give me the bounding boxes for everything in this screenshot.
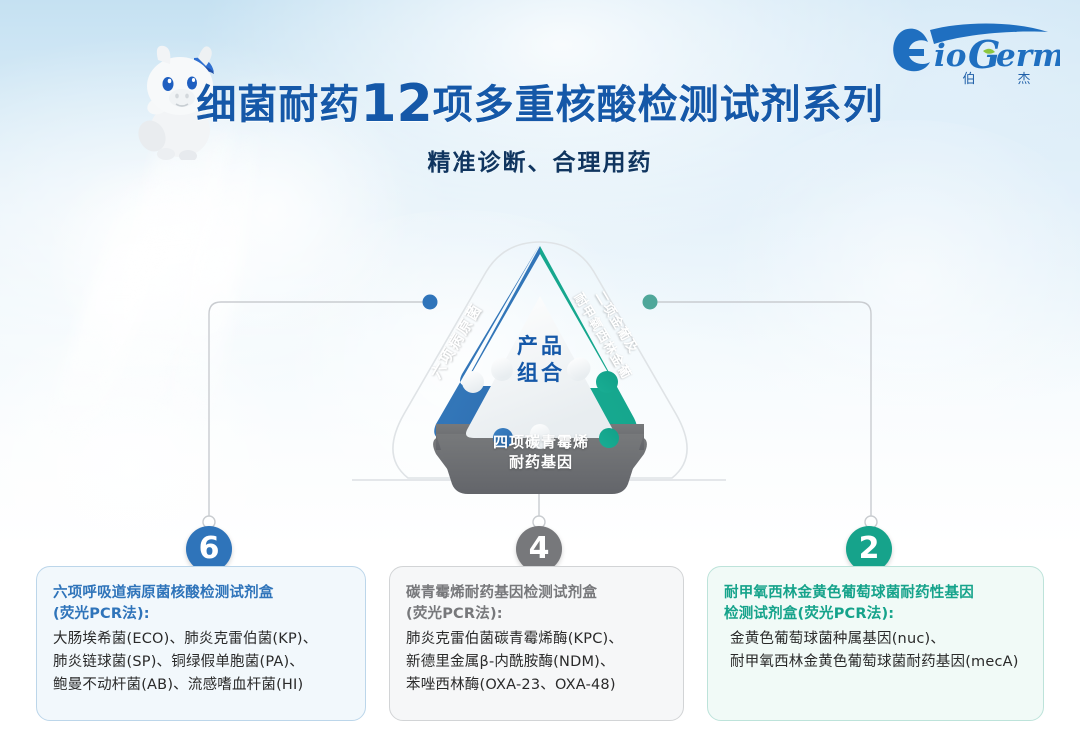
triangle-label-bottom-2: 耐药基因 <box>455 452 627 472</box>
card-body-line-3: 苯唑西林酶(OXA-23、OXA-48) <box>406 674 669 697</box>
triangle-label-bottom: 四项碳青霉烯 耐药基因 <box>455 432 627 472</box>
card-body: 金黄色葡萄球菌种属基因(nuc)、 耐甲氧西林金黄色葡萄球菌耐药基因(mecA) <box>724 628 1029 674</box>
card-title-line-2: (荧光PCR法): <box>406 604 669 625</box>
card-title-line-1: 六项呼吸道病原菌核酸检测试剂盒 <box>53 583 351 604</box>
product-card-carbapenem: 碳青霉烯耐药基因检测试剂盒 (荧光PCR法): 肺炎克雷伯菌碳青霉烯酶(KPC)… <box>389 566 684 721</box>
card-title: 碳青霉烯耐药基因检测试剂盒 (荧光PCR法): <box>406 583 669 625</box>
card-body-line-1: 金黄色葡萄球菌种属基因(nuc)、 <box>730 628 1029 651</box>
center-label-line-2: 组合 <box>482 360 600 387</box>
product-combination-diagram: 六项病原菌 二项金葡及 耐甲氧西林金葡 四项碳青霉烯 耐药基因 产品 组合 <box>390 238 690 500</box>
product-card-mrsa: 耐甲氧西林金黄色葡萄球菌耐药性基因 检测试剂盒(荧光PCR法): 金黄色葡萄球菌… <box>707 566 1044 721</box>
triangle-center-label: 产品 组合 <box>482 333 600 387</box>
card-title-line-2: 检测试剂盒(荧光PCR法): <box>724 604 1029 625</box>
card-body-line-1: 肺炎克雷伯菌碳青霉烯酶(KPC)、 <box>406 628 669 651</box>
card-body-line-2: 耐甲氧西林金黄色葡萄球菌耐药基因(mecA) <box>730 651 1029 674</box>
card-title-line-1: 耐甲氧西林金黄色葡萄球菌耐药性基因 <box>724 583 1029 604</box>
card-body-line-2: 肺炎链球菌(SP)、铜绿假单胞菌(PA)、 <box>53 651 351 674</box>
center-label-line-1: 产品 <box>482 333 600 360</box>
card-title-line-2: (荧光PCR法): <box>53 604 351 625</box>
card-body-line-1: 大肠埃希菌(ECO)、肺炎克雷伯菌(KP)、 <box>53 628 351 651</box>
card-title: 六项呼吸道病原菌核酸检测试剂盒 (荧光PCR法): <box>53 583 351 625</box>
card-title-line-1: 碳青霉烯耐药基因检测试剂盒 <box>406 583 669 604</box>
product-card-respiratory: 六项呼吸道病原菌核酸检测试剂盒 (荧光PCR法): 大肠埃希菌(ECO)、肺炎克… <box>36 566 366 721</box>
card-body-line-3: 鲍曼不动杆菌(AB)、流感嗜血杆菌(HI) <box>53 674 351 697</box>
card-body-line-2: 新德里金属β-内酰胺酶(NDM)、 <box>406 651 669 674</box>
triangle-label-bottom-1: 四项碳青霉烯 <box>455 432 627 452</box>
card-title: 耐甲氧西林金黄色葡萄球菌耐药性基因 检测试剂盒(荧光PCR法): <box>724 583 1029 625</box>
card-body: 肺炎克雷伯菌碳青霉烯酶(KPC)、 新德里金属β-内酰胺酶(NDM)、 苯唑西林… <box>406 628 669 697</box>
card-body: 大肠埃希菌(ECO)、肺炎克雷伯菌(KP)、 肺炎链球菌(SP)、铜绿假单胞菌(… <box>53 628 351 697</box>
poster-canvas: io G erm 伯 杰 <box>0 0 1080 741</box>
